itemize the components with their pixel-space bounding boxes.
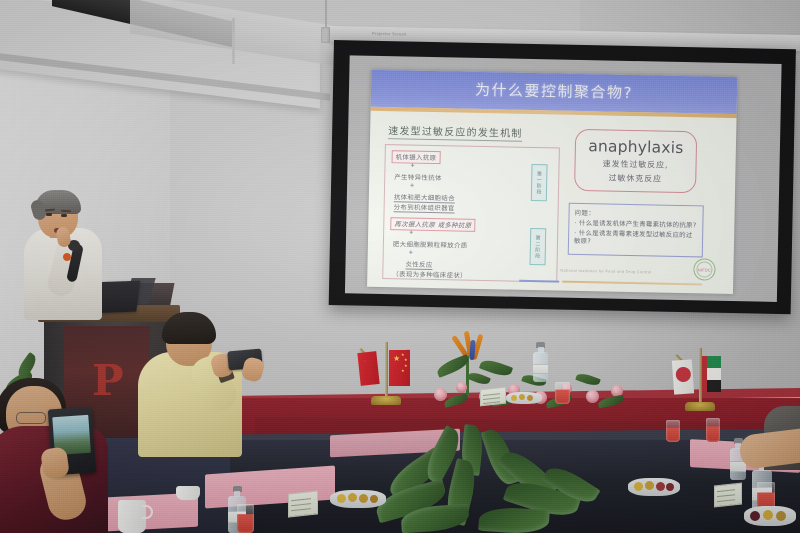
flowchart-connector-4: + bbox=[409, 250, 413, 257]
juice-glass bbox=[666, 420, 680, 442]
flag-star-small-icon: ★ bbox=[401, 369, 405, 373]
flag-star-large-icon: ★ bbox=[393, 355, 400, 363]
flowchart-step-4: 分布到机体组织器官 bbox=[394, 202, 455, 213]
screen-drop-cord bbox=[325, 0, 327, 30]
flag-stand-left: · ★ ★ ★ ★ ★ bbox=[352, 340, 424, 406]
flowchart-step-1: 机体摄入抗原 bbox=[392, 150, 441, 164]
fruit-plate bbox=[744, 506, 796, 526]
anaphylaxis-translation-line1: 速发性过敏反应, bbox=[575, 158, 695, 171]
place-name-card bbox=[288, 490, 318, 517]
conference-room-photo: Projector Screen 为什么要控制聚合物? 速发型过敏反应的发生机制… bbox=[0, 0, 800, 533]
fruit-plate bbox=[628, 478, 680, 496]
fruit-plate bbox=[330, 490, 386, 508]
ceiling-support-rod bbox=[232, 18, 235, 64]
flowchart-stage-label-1: 第一阶段 bbox=[531, 164, 548, 201]
anaphylaxis-card: anaphylaxis 速发性过敏反应, 过敏休克反应 bbox=[574, 129, 697, 193]
flag-inscription: · bbox=[361, 360, 367, 363]
juice-glass bbox=[237, 504, 254, 533]
coffee-mug bbox=[118, 500, 146, 533]
microphone-indicator-icon bbox=[63, 253, 71, 261]
flag-china-right: ★ ★ ★ ★ ★ bbox=[389, 350, 410, 386]
flag-uae bbox=[702, 356, 721, 392]
eyeglasses bbox=[16, 412, 46, 424]
question-card-heading: 问题： bbox=[574, 208, 697, 219]
anaphylaxis-term: anaphylaxis bbox=[576, 137, 696, 157]
flag-pole-center bbox=[385, 342, 388, 398]
slide-footer-rule bbox=[562, 281, 702, 285]
anaphylaxis-translation-line2: 过敏休克反应 bbox=[575, 172, 695, 185]
juice-glass bbox=[706, 418, 720, 442]
flowchart-connector-1: + bbox=[410, 163, 414, 170]
question-card: 问题： · 什么是诱发机体产生青霉素抗体的抗原? · 什么是诱发青霉素速发型过敏… bbox=[568, 203, 704, 258]
water-bottle bbox=[533, 342, 548, 382]
attendee-foreground-left-hand bbox=[40, 446, 70, 479]
bottle-label bbox=[533, 364, 548, 374]
projection-screen-surface: 为什么要控制聚合物? 速发型过敏反应的发生机制 机体摄入抗原 + 产生特异性抗体… bbox=[345, 55, 782, 302]
speaker-eye-left bbox=[46, 213, 52, 216]
flag-stand-base bbox=[371, 396, 401, 405]
fruit-plate bbox=[506, 392, 542, 404]
slide-footer-rule-accent bbox=[519, 280, 559, 282]
slide-section-heading: 速发型过敏反应的发生机制 bbox=[388, 122, 523, 142]
japan-sun-disc-icon bbox=[675, 367, 691, 383]
flag-japan bbox=[672, 359, 694, 394]
screen-brand-label: Projector Screen bbox=[372, 31, 407, 37]
flowchart-container: 机体摄入抗原 + 产生特异性抗体 + 抗体和肥大细胞结合 分布到机体组织器官 再… bbox=[382, 144, 560, 282]
bottle-body bbox=[533, 352, 548, 382]
flowchart-step-6: 肥大细胞脱颗粒释放介质 bbox=[393, 239, 468, 249]
flowchart-connector-3: + bbox=[409, 230, 413, 237]
juice-glass bbox=[555, 382, 570, 404]
place-name-card bbox=[480, 387, 506, 407]
podium-emblem: P bbox=[92, 358, 128, 406]
flowchart-step-5: 再次摄入抗原 或多种抗原 bbox=[390, 217, 475, 232]
presentation-slide: 为什么要控制聚合物? 速发型过敏反应的发生机制 机体摄入抗原 + 产生特异性抗体… bbox=[367, 70, 737, 294]
place-name-card bbox=[714, 483, 742, 508]
flowchart-step-7: 炎性反应 bbox=[405, 259, 432, 270]
flowchart-connector-2: + bbox=[410, 183, 414, 190]
flag-star-small-icon: ★ bbox=[404, 358, 408, 362]
slide-footer-organization: National Institutes for Food and Drug Co… bbox=[560, 269, 651, 275]
question-card-item-2: · 什么是诱发青霉素速发型过敏反应的过敏原? bbox=[574, 229, 697, 249]
flowchart-step-8: （表现为多种临床症状） bbox=[392, 269, 467, 279]
cord-clip bbox=[321, 27, 330, 43]
flowchart-stage-label-2: 第二阶段 bbox=[530, 228, 547, 265]
flag-china-left: · bbox=[357, 351, 379, 386]
flag-stand-base bbox=[685, 402, 715, 411]
question-card-item-1: · 什么是诱发机体产生青霉素抗体的抗原? bbox=[574, 218, 697, 229]
coffee-mug bbox=[176, 486, 200, 500]
speaker-eye-right bbox=[61, 214, 67, 217]
flag-stand-right bbox=[664, 346, 738, 412]
flag-hoist-bar bbox=[702, 356, 707, 392]
slide-body: 速发型过敏反应的发生机制 机体摄入抗原 + 产生特异性抗体 + 抗体和肥大细胞结… bbox=[367, 111, 736, 294]
center-table-plant bbox=[375, 440, 605, 533]
nifdc-logo-icon: NIFDC bbox=[693, 258, 715, 280]
projection-screen-frame: 为什么要控制聚合物? 速发型过敏反应的发生机制 机体摄入抗原 + 产生特异性抗体… bbox=[329, 40, 796, 314]
flowchart-step-2: 产生特异性抗体 bbox=[394, 172, 442, 182]
